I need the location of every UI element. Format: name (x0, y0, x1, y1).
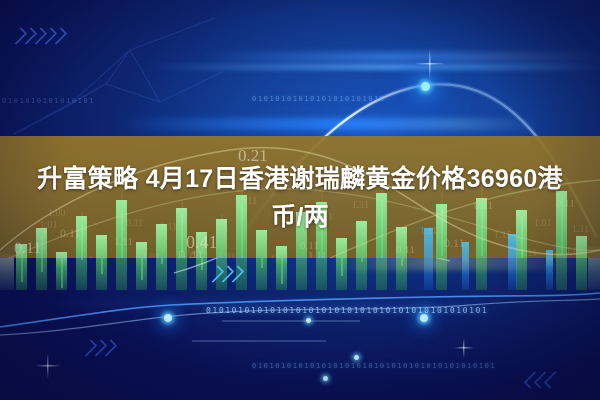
banner-image: 0101010101010101010101010101010101010101… (0, 0, 600, 400)
vignette-overlay (0, 0, 600, 400)
